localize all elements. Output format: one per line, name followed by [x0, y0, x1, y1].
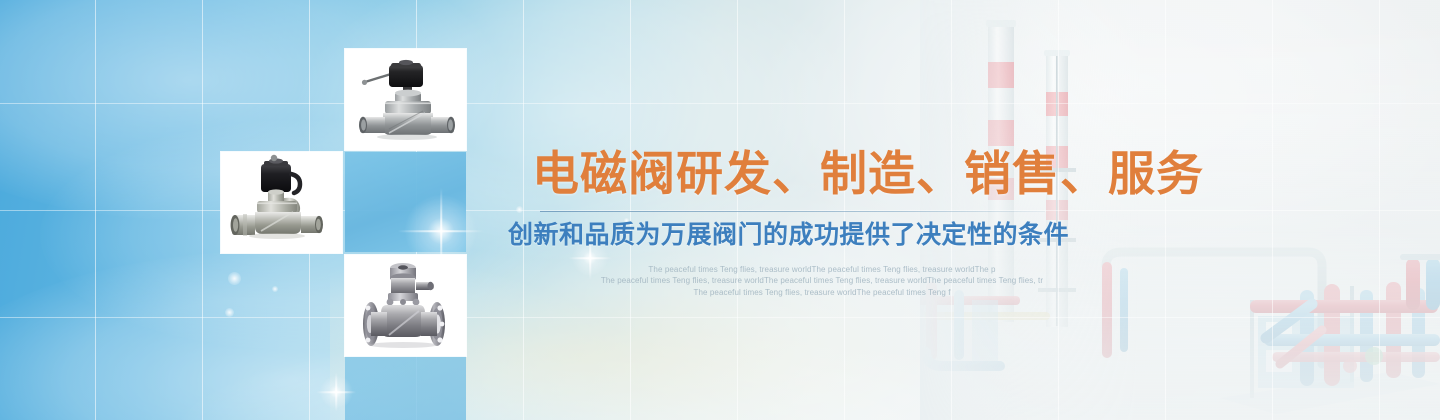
- banner-subheadline: 创新和品质为万展阀门的成功提供了决定性的条件: [508, 221, 1120, 250]
- blurb-line-2: The peaceful times Teng flies, treasure …: [522, 275, 1122, 287]
- banner-headline: 电磁阀研发、制造、销售、服务: [532, 150, 1120, 197]
- banner-copy: 电磁阀研发、制造、销售、服务 创新和品质为万展阀门的成功提供了决定性的条件 Th…: [500, 150, 1120, 299]
- mosaic-tile-blue: [345, 356, 466, 420]
- banner-blurb: The peaceful times Teng flies, treasure …: [522, 264, 1122, 299]
- product-thumbnail-1[interactable]: [345, 49, 466, 150]
- product-thumbnail-2[interactable]: [221, 152, 342, 253]
- blurb-line-3: The peaceful times Teng flies, treasure …: [522, 287, 1122, 299]
- mosaic-tile-blue: [345, 152, 466, 252]
- hero-banner: 电磁阀研发、制造、销售、服务 创新和品质为万展阀门的成功提供了决定性的条件 Th…: [0, 0, 1440, 420]
- blurb-line-1: The peaceful times Teng flies, treasure …: [522, 264, 1122, 276]
- product-thumbnail-3[interactable]: [345, 255, 466, 356]
- headline-divider: [540, 211, 1045, 212]
